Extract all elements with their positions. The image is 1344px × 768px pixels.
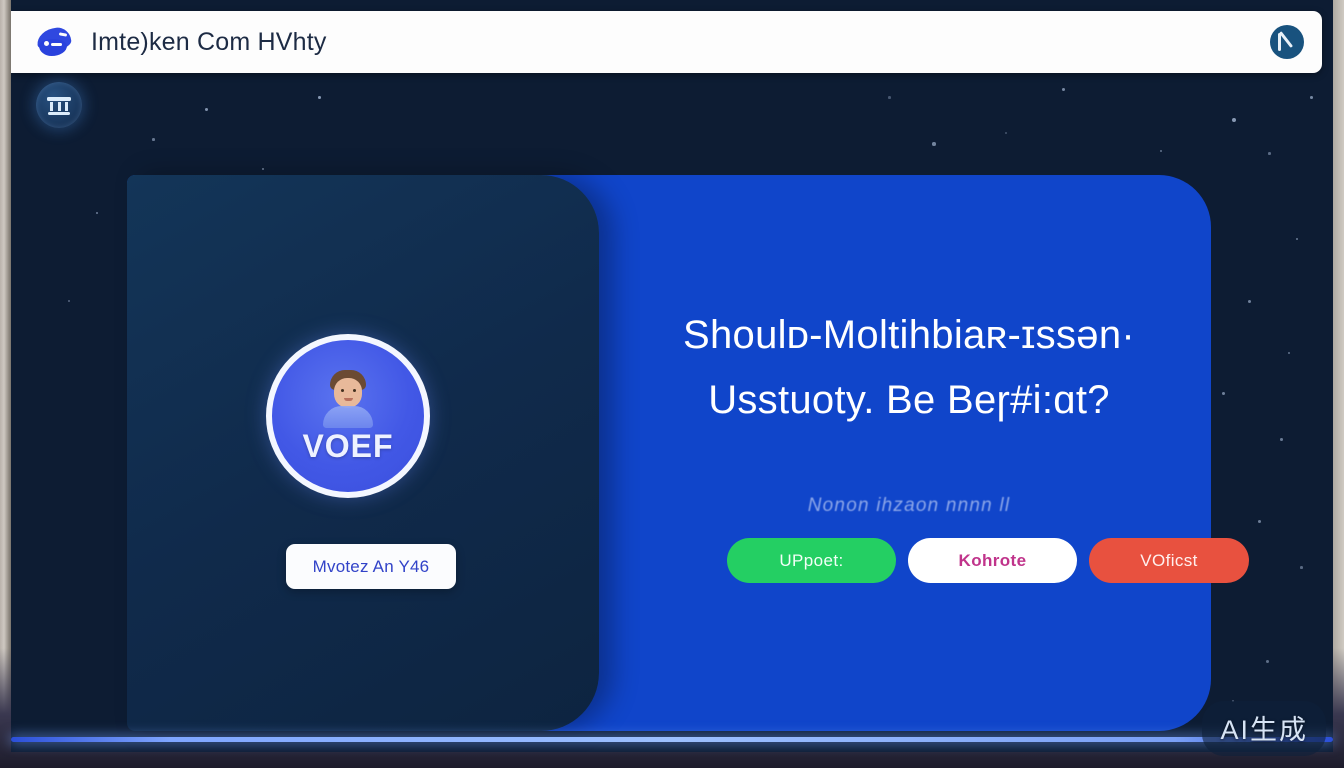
headline: Shoulᴅ-Moltihbiaʀ-ɪssən· Usstuoty. Be Be…: [609, 303, 1209, 433]
upvote-button[interactable]: UPpoet:: [727, 538, 896, 583]
user-photo-avatar-icon: [323, 370, 373, 428]
avatar-label: VOEF: [272, 428, 424, 465]
headline-line-2: Usstuoty. Be Beɼ#i:ɑt?: [609, 368, 1209, 433]
neutral-vote-button[interactable]: Kohrote: [908, 538, 1077, 583]
bank-columns-icon-button[interactable]: [36, 82, 82, 128]
headline-line-1: Shoulᴅ-Moltihbiaʀ-ɪssən·: [683, 313, 1135, 357]
action-pill-button[interactable]: Mvotez An Y46: [286, 544, 456, 589]
main-card: Shoulᴅ-Moltihbiaʀ-ɪssən· Usstuoty. Be Be…: [127, 175, 1211, 731]
avatar[interactable]: VOEF: [266, 334, 430, 498]
app-frame: Imte)ken Com HVhty Shoulᴅ-Moltihbiaʀ-ɪss…: [11, 0, 1333, 752]
window-title: Imte)ken Com HVhty: [91, 28, 327, 57]
diagonal-arrow-circle-icon[interactable]: [1270, 25, 1304, 59]
downvote-button[interactable]: VOficst: [1089, 538, 1249, 583]
window-titlebar: Imte)ken Com HVhty: [11, 11, 1322, 73]
card-left-dark-panel: VOEF Mvotez An Y46: [127, 175, 599, 731]
imtoken-whale-logo-icon: [35, 26, 75, 58]
bottom-glow-divider: [11, 737, 1333, 742]
action-pill-label: Mvotez An Y46: [313, 557, 430, 577]
ai-generated-watermark: AI生成: [1202, 701, 1326, 756]
bank-columns-icon: [47, 95, 71, 115]
right-panel-content: Shoulᴅ-Moltihbiaʀ-ɪssən· Usstuoty. Be Be…: [599, 175, 1211, 731]
avatar-ring: VOEF: [266, 334, 430, 498]
vote-button-row: UPpoet: Kohrote VOficst: [727, 538, 1249, 583]
subtitle-text: Nonon ihzaon nnnn ll: [609, 495, 1209, 517]
